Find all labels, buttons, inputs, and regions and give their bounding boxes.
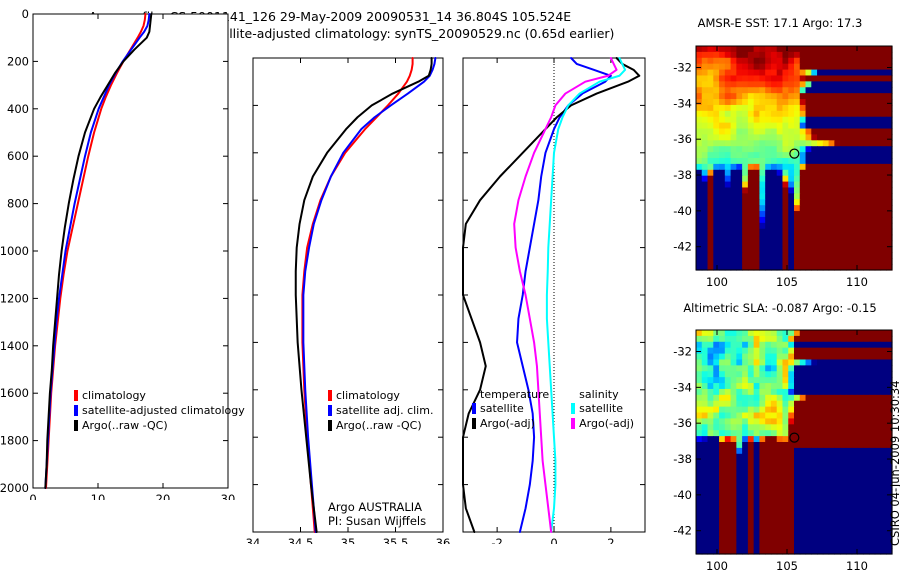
legend-label-sal-satellite: satellite <box>579 401 623 416</box>
svg-text:-38: -38 <box>673 168 692 182</box>
legend-swatch-sal-satellite <box>571 403 575 414</box>
csiro-timestamp: CSIRO 04-Jun-2009 10:30:34 <box>888 380 900 546</box>
svg-text:-38: -38 <box>673 452 692 466</box>
svg-text:1400: 1400 <box>0 339 29 353</box>
legend-heading-salinity: salinity <box>571 388 634 401</box>
svg-text:105: 105 <box>776 559 798 573</box>
sst-map-title-text: AMSR-E SST: 17.1 Argo: 17.3 <box>698 16 863 30</box>
legend-item-argo: Argo(..raw -QC) <box>74 418 249 433</box>
sla-map[interactable]: 100105110-32-34-36-38-40-42 <box>660 316 900 578</box>
svg-text:0: 0 <box>550 536 557 544</box>
legend-item-climatology: climatology <box>328 388 433 403</box>
legend-swatch-climatology <box>328 390 332 401</box>
credit-org: Argo AUSTRALIA <box>328 500 426 514</box>
legend-swatch-sal-argo <box>571 418 575 429</box>
salinity-legend: climatology satellite adj. clim. Argo(..… <box>328 388 433 433</box>
svg-text:-34: -34 <box>673 380 692 394</box>
legend-label-temp-satellite: satellite <box>480 401 524 416</box>
svg-text:35: 35 <box>341 536 356 544</box>
svg-text:-40: -40 <box>673 488 692 502</box>
svg-text:34: 34 <box>246 536 261 544</box>
salinity-panel: 3434.53535.536salinity <box>240 44 450 544</box>
svg-text:105: 105 <box>776 275 798 289</box>
svg-text:800: 800 <box>7 197 29 211</box>
svg-text:110: 110 <box>846 559 868 573</box>
salinity-plot[interactable]: 3434.53535.536salinity <box>240 44 450 544</box>
svg-text:-36: -36 <box>673 132 692 146</box>
legend-swatch-argo <box>328 420 332 431</box>
legend-swatch-temp-argo <box>472 418 476 429</box>
svg-text:-42: -42 <box>673 240 692 254</box>
svg-text:110: 110 <box>846 275 868 289</box>
svg-text:36: 36 <box>436 536 450 544</box>
legend-label-satellite: satellite-adjusted climatology <box>82 403 245 418</box>
svg-text:-34: -34 <box>673 96 692 110</box>
legend-item-sal-argo: Argo(-adj) <box>571 416 634 431</box>
legend-swatch-satellite <box>74 405 78 416</box>
sla-map-title-text: Altimetric SLA: -0.087 Argo: -0.15 <box>683 301 876 315</box>
legend-label-temp-argo: Argo(-adj) <box>480 416 535 431</box>
svg-text:1000: 1000 <box>0 244 29 258</box>
legend-item-temp-argo: Argo(-adj) <box>472 416 549 431</box>
difference-legend-temperature: temperature satellite Argo(-adj) <box>472 388 549 431</box>
svg-text:34.5: 34.5 <box>288 536 314 544</box>
difference-legend-salinity: salinity satellite Argo(-adj) <box>571 388 634 431</box>
legend-label-climatology: climatology <box>336 388 400 403</box>
svg-text:-42: -42 <box>673 524 692 538</box>
difference-legend: temperature satellite Argo(-adj) salinit… <box>472 388 634 431</box>
sla-map-title: Altimetric SLA: -0.087 Argo: -0.15 <box>660 301 900 315</box>
legend-item-satellite: satellite adj. clim. <box>328 403 433 418</box>
legend-swatch-temp-satellite <box>472 403 476 414</box>
svg-text:200: 200 <box>7 54 29 68</box>
svg-text:100: 100 <box>706 559 728 573</box>
svg-text:-2: -2 <box>491 536 502 544</box>
legend-label-satellite: satellite adj. clim. <box>336 403 433 418</box>
svg-text:1800: 1800 <box>0 434 29 448</box>
svg-text:400: 400 <box>7 102 29 116</box>
legend-item-climatology: climatology <box>74 388 249 403</box>
svg-text:100: 100 <box>706 275 728 289</box>
credit-pi: PI: Susan Wijffels <box>328 514 426 528</box>
svg-text:-36: -36 <box>673 416 692 430</box>
legend-item-sal-satellite: satellite <box>571 401 634 416</box>
svg-text:600: 600 <box>7 149 29 163</box>
legend-label-sal-argo: Argo(-adj) <box>579 416 634 431</box>
svg-text:-40: -40 <box>673 204 692 218</box>
svg-text:20: 20 <box>156 492 171 500</box>
svg-text:-32: -32 <box>673 345 692 359</box>
svg-text:0: 0 <box>29 492 36 500</box>
legend-label-climatology: climatology <box>82 388 146 403</box>
svg-text:0: 0 <box>22 7 29 21</box>
legend-item-argo: Argo(..raw -QC) <box>328 418 433 433</box>
legend-swatch-satellite <box>328 405 332 416</box>
legend-swatch-climatology <box>74 390 78 401</box>
svg-text:2: 2 <box>607 536 614 544</box>
svg-text:1600: 1600 <box>0 386 29 400</box>
svg-text:30: 30 <box>221 492 236 500</box>
legend-swatch-argo <box>74 420 78 431</box>
svg-text:35.5: 35.5 <box>383 536 409 544</box>
svg-text:2000: 2000 <box>0 481 29 495</box>
difference-panel: -202difference from climatology <box>450 44 660 544</box>
temperature-legend: climatology satellite-adjusted climatolo… <box>74 388 249 433</box>
credit-block: Argo AUSTRALIA PI: Susan Wijffels <box>328 500 426 528</box>
svg-text:-32: -32 <box>673 61 692 75</box>
legend-item-temp-satellite: satellite <box>472 401 549 416</box>
svg-text:10: 10 <box>91 492 106 500</box>
legend-heading-temperature: temperature <box>472 388 549 401</box>
difference-plot[interactable]: -202difference from climatology <box>450 44 660 544</box>
legend-item-satellite: satellite-adjusted climatology <box>74 403 249 418</box>
sst-map-panel: 100105110-32-34-36-38-40-42 <box>660 32 900 294</box>
sla-map-panel: 100105110-32-34-36-38-40-42 <box>660 316 900 578</box>
svg-text:1200: 1200 <box>0 291 29 305</box>
legend-label-argo: Argo(..raw -QC) <box>82 418 168 433</box>
sst-map[interactable]: 100105110-32-34-36-38-40-42 <box>660 32 900 294</box>
sst-map-title: AMSR-E SST: 17.1 Argo: 17.3 <box>660 16 900 30</box>
legend-label-argo: Argo(..raw -QC) <box>336 418 422 433</box>
